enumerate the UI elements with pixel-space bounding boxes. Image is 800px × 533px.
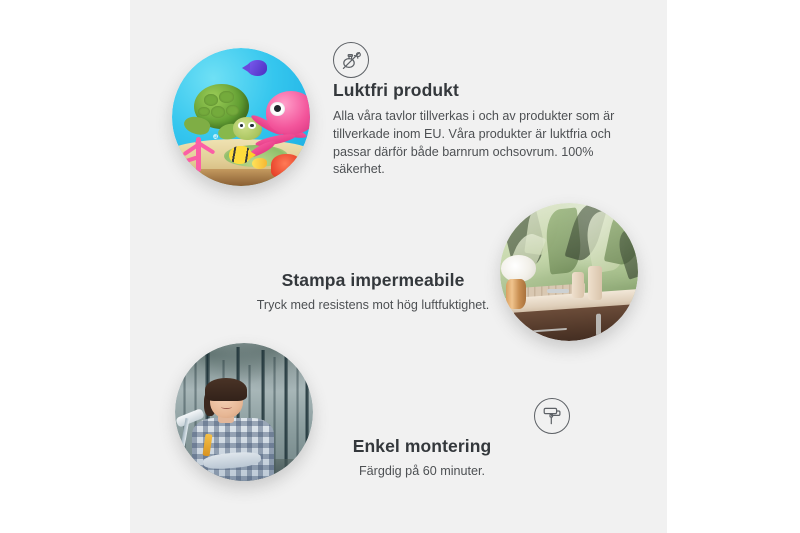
photo-underwater-kids-mural bbox=[172, 48, 310, 186]
feature-title: Stampa impermeabile bbox=[213, 269, 533, 292]
feature-waterproof: Stampa impermeabile Tryck med resistens … bbox=[213, 232, 533, 315]
feature-title: Enkel montering bbox=[262, 435, 582, 458]
no-smell-spray-icon bbox=[333, 42, 369, 78]
feature-body: Alla våra tavlor tillverkas i och av pro… bbox=[333, 108, 615, 180]
photo-bathroom-tropical-wallpaper bbox=[500, 203, 638, 341]
feature-body: Färgdig på 60 minuter. bbox=[262, 463, 582, 481]
feature-easy-mounting: Enkel montering Färgdig på 60 minuter. bbox=[262, 398, 582, 481]
feature-body: Tryck med resistens mot hög luftfuktighe… bbox=[213, 297, 533, 315]
page-frame: Luktfri produkt Alla våra tavlor tillver… bbox=[0, 0, 800, 533]
paint-roller-icon bbox=[534, 398, 570, 434]
feature-canvas: Luktfri produkt Alla våra tavlor tillver… bbox=[130, 0, 667, 533]
feature-title: Luktfri produkt bbox=[333, 79, 615, 102]
